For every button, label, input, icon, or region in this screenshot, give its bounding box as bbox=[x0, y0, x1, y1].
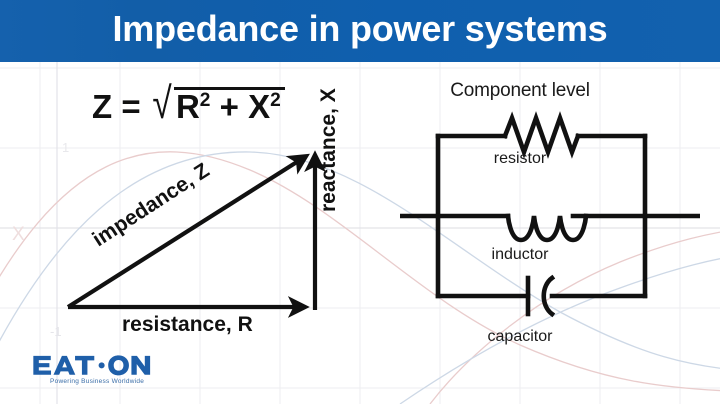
formula-term2-base: X bbox=[248, 88, 270, 125]
eaton-tagline: Powering Business Worldwide bbox=[50, 378, 156, 385]
impedance-triangle-diagram: resistance, R impedance, Z reactance, X bbox=[40, 130, 370, 345]
formula-term2-exponent: 2 bbox=[270, 90, 281, 111]
radical-sign-icon: √ bbox=[152, 82, 171, 126]
formula-radicand: R2 + X2 bbox=[176, 87, 281, 123]
inductor-coil-icon bbox=[508, 216, 586, 240]
formula-equals: = bbox=[121, 88, 140, 125]
component-level-circuit: Component level resistor inductor capaci… bbox=[400, 78, 700, 353]
title-bar: Impedance in power systems bbox=[0, 0, 720, 62]
resistor-zigzag-icon bbox=[505, 118, 578, 152]
formula-operator: + bbox=[220, 88, 239, 125]
capacitor-label: capacitor bbox=[400, 328, 640, 346]
bg-axis-label-y: X bbox=[12, 224, 25, 245]
formula-term1-exponent: 2 bbox=[200, 90, 211, 111]
inductor-label: inductor bbox=[400, 246, 640, 264]
formula-term1-base: R bbox=[176, 88, 200, 125]
impedance-formula: Z = √R2 + X2 bbox=[92, 82, 281, 126]
eaton-wordmark-icon bbox=[28, 355, 156, 377]
eaton-logo: Powering Business Worldwide bbox=[28, 355, 156, 385]
resistor-label: resistor bbox=[400, 150, 640, 168]
slide-canvas: X 1 -1 Impedance in power systems Z = √R… bbox=[0, 0, 720, 404]
page-title: Impedance in power systems bbox=[0, 6, 720, 52]
reactance-label: reactance, X bbox=[317, 88, 341, 212]
rlc-circuit-svg bbox=[400, 78, 700, 353]
resistance-label: resistance, R bbox=[122, 313, 253, 337]
formula-lhs: Z bbox=[92, 88, 112, 125]
circuit-title: Component level bbox=[400, 80, 640, 102]
